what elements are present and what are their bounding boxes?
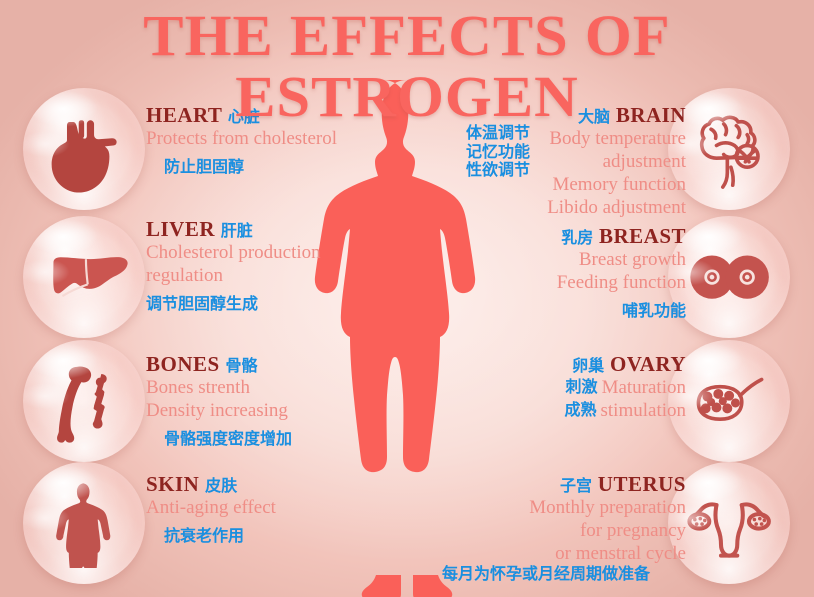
- note-cn-skin: 抗衰老作用: [146, 522, 276, 546]
- liver-icon: [39, 232, 129, 322]
- liver-icon-sphere: [23, 216, 145, 338]
- heading-liver: LIVER 肝脏: [146, 217, 321, 241]
- text-block-bones: BONES 骨骼 Bones strenth Density increasin…: [146, 352, 292, 449]
- skin-body-icon-sphere: [23, 462, 145, 584]
- ovary-icon-sphere: [668, 340, 790, 462]
- bones-icon: [39, 356, 129, 446]
- side-note-cn-brain-2: 记忆功能: [466, 143, 530, 162]
- infographic-poster: THE EFFECTS OF ESTROGEN: [0, 0, 814, 597]
- bones-icon-sphere: [23, 340, 145, 462]
- note-cn-liver: 调节胆固醇生成: [146, 290, 321, 314]
- description-brain-line-2: adjustment: [547, 151, 686, 173]
- side-notes-cn-brain: 体温调节 记忆功能 性欲调节: [466, 124, 530, 180]
- description-skin-line-1: Anti-aging effect: [146, 497, 276, 519]
- lead-cn-ovary-2: 成熟: [564, 400, 596, 419]
- text-block-liver: LIVER 肝脏 Cholesterol production regulati…: [146, 217, 321, 314]
- description-uterus-line-3: or menstral cycle: [529, 543, 686, 565]
- breast-icon: [684, 232, 774, 322]
- description-uterus-line-2: for pregnancy: [529, 520, 686, 542]
- note-cn-breast: 哺乳功能: [557, 297, 686, 321]
- heading-ovary: 卵巢 OVARY: [564, 352, 686, 376]
- description-brain-line-3: Memory function: [547, 174, 686, 196]
- uterus-icon-sphere: [668, 462, 790, 584]
- description-ovary-line-1: 刺激Maturation: [564, 377, 686, 399]
- description-brain-line-4: Libido adjustment: [547, 197, 686, 219]
- description-heart-line-1: Protects from cholesterol: [146, 128, 337, 150]
- description-bones-line-2: Density increasing: [146, 400, 292, 422]
- side-note-cn-brain-3: 性欲调节: [466, 161, 530, 180]
- note-cn-bones: 骨骼强度密度增加: [146, 425, 292, 449]
- text-block-ovary: 卵巢 OVARY 刺激Maturation 成熟stimulation: [564, 352, 686, 422]
- description-ovary-line-2: 成熟stimulation: [564, 400, 686, 422]
- uterus-icon: [684, 478, 774, 568]
- heading-bones: BONES 骨骼: [146, 352, 292, 376]
- heading-uterus: 子宫 UTERUS: [529, 472, 686, 496]
- description-breast-line-1: Breast growth: [557, 249, 686, 271]
- ovary-icon: [684, 356, 774, 446]
- text-block-skin: SKIN 皮肤 Anti-aging effect 抗衰老作用: [146, 472, 276, 546]
- breast-icon-sphere: [668, 216, 790, 338]
- note-cn-heart: 防止胆固醇: [146, 153, 337, 177]
- description-liver-line-1: Cholesterol production: [146, 242, 321, 264]
- heading-breast: 乳房 BREAST: [557, 224, 686, 248]
- description-bones-line-1: Bones strenth: [146, 377, 292, 399]
- skin-body-icon: [39, 478, 129, 568]
- description-brain-line-1: Body temperature: [547, 128, 686, 150]
- note-cn-uterus: 每月为怀孕或月经周期做准备: [442, 565, 650, 584]
- description-uterus-line-1: Monthly preparation: [529, 497, 686, 519]
- description-liver-line-2: regulation: [146, 265, 321, 287]
- heading-skin: SKIN 皮肤: [146, 472, 276, 496]
- lead-cn-ovary-1: 刺激: [566, 377, 598, 396]
- text-block-uterus: 子宫 UTERUS Monthly preparation for pregna…: [529, 472, 686, 565]
- description-breast-line-2: Feeding function: [557, 272, 686, 294]
- page-title: THE EFFECTS OF ESTROGEN: [0, 6, 814, 128]
- text-block-breast: 乳房 BREAST Breast growth Feeding function…: [557, 224, 686, 321]
